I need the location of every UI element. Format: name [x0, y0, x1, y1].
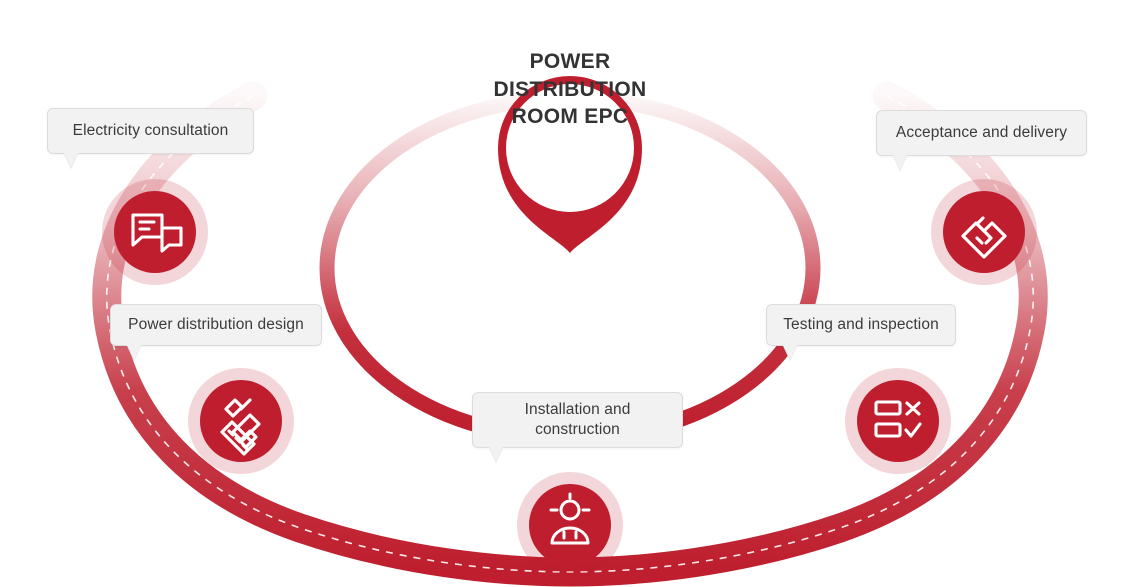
page-title-line-2: DISTRIBUTION	[470, 76, 670, 104]
label-text: Installation and construction	[525, 400, 631, 440]
node-electricity-consultation[interactable]	[102, 179, 208, 285]
label-text: Testing and inspection	[783, 315, 939, 335]
diagram-canvas: POWER DISTRIBUTION ROOM EPC Electricity …	[0, 0, 1139, 587]
label-power-distribution-design[interactable]: Power distribution design	[110, 304, 322, 346]
node-testing-and-inspection[interactable]	[845, 368, 951, 474]
label-text: Electricity consultation	[73, 121, 229, 141]
label-testing-and-inspection[interactable]: Testing and inspection	[766, 304, 956, 346]
label-text: Power distribution design	[128, 315, 304, 335]
label-acceptance-and-delivery[interactable]: Acceptance and delivery	[876, 110, 1087, 156]
label-text-line-2: construction	[535, 421, 620, 438]
label-text-line-1: Installation and	[525, 401, 631, 418]
page-title-line-1: POWER	[470, 48, 670, 76]
callout-tail	[893, 155, 907, 170]
page-title: POWER DISTRIBUTION ROOM EPC	[470, 48, 670, 131]
label-text: Acceptance and delivery	[896, 123, 1067, 143]
label-installation-and-construction[interactable]: Installation and construction	[472, 392, 683, 448]
callout-tail	[127, 345, 141, 360]
callout-tail	[489, 447, 503, 462]
callout-tail	[783, 345, 797, 360]
node-installation-and-construction[interactable]	[517, 472, 623, 578]
callout-tail	[64, 153, 78, 168]
node-power-distribution-design[interactable]	[188, 368, 294, 474]
node-acceptance-and-delivery[interactable]	[931, 179, 1037, 285]
label-electricity-consultation[interactable]: Electricity consultation	[47, 108, 254, 154]
page-title-line-3: ROOM EPC	[470, 103, 670, 131]
